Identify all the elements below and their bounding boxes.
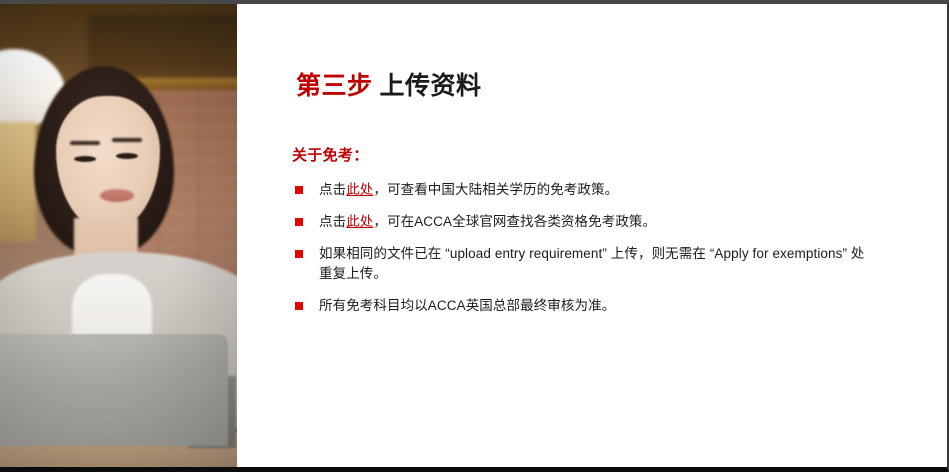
list-item: 点击此处，可查看中国大陆相关学历的免考政策。 <box>292 180 852 200</box>
photo-vignette <box>0 4 237 467</box>
page-title: 第三步上传资料 <box>296 66 482 102</box>
content-panel: 第三步上传资料 关于免考： 点击此处，可查看中国大陆相关学历的免考政策。 点击此… <box>237 4 947 467</box>
woman-at-laptop-photo <box>0 4 237 467</box>
square-bullet-icon <box>295 302 303 310</box>
exemption-policy-link[interactable]: 此处 <box>346 182 373 197</box>
list-item-text-post: ，可在ACCA全球官网查找各类资格免考政策。 <box>373 214 656 229</box>
list-item: 点击此处，可在ACCA全球官网查找各类资格免考政策。 <box>292 212 852 232</box>
square-bullet-icon <box>295 250 303 258</box>
list-item-text: 所有免考科目均以ACCA英国总部最终审核为准。 <box>319 298 615 313</box>
slide-root: 第三步上传资料 关于免考： 点击此处，可查看中国大陆相关学历的免考政策。 点击此… <box>0 0 949 472</box>
bullet-list: 点击此处，可查看中国大陆相关学历的免考政策。 点击此处，可在ACCA全球官网查找… <box>292 180 852 316</box>
square-bullet-icon <box>295 218 303 226</box>
section-subtitle: 关于免考： <box>292 144 369 165</box>
list-item-text-post: ，可查看中国大陆相关学历的免考政策。 <box>373 182 618 197</box>
global-site-link[interactable]: 此处 <box>346 214 373 229</box>
square-bullet-icon <box>295 186 303 194</box>
page-title-rest: 上传资料 <box>380 72 482 100</box>
list-item-text-pre: 点击 <box>319 182 346 197</box>
list-item: 所有免考科目均以ACCA英国总部最终审核为准。 <box>292 296 852 316</box>
list-item: 如果相同的文件已在 “upload entry requirement” 上传，… <box>292 244 865 284</box>
page-title-step: 第三步 <box>296 72 373 100</box>
list-item-text: 如果相同的文件已在 “upload entry requirement” 上传，… <box>319 246 865 281</box>
list-item-text-pre: 点击 <box>319 214 346 229</box>
